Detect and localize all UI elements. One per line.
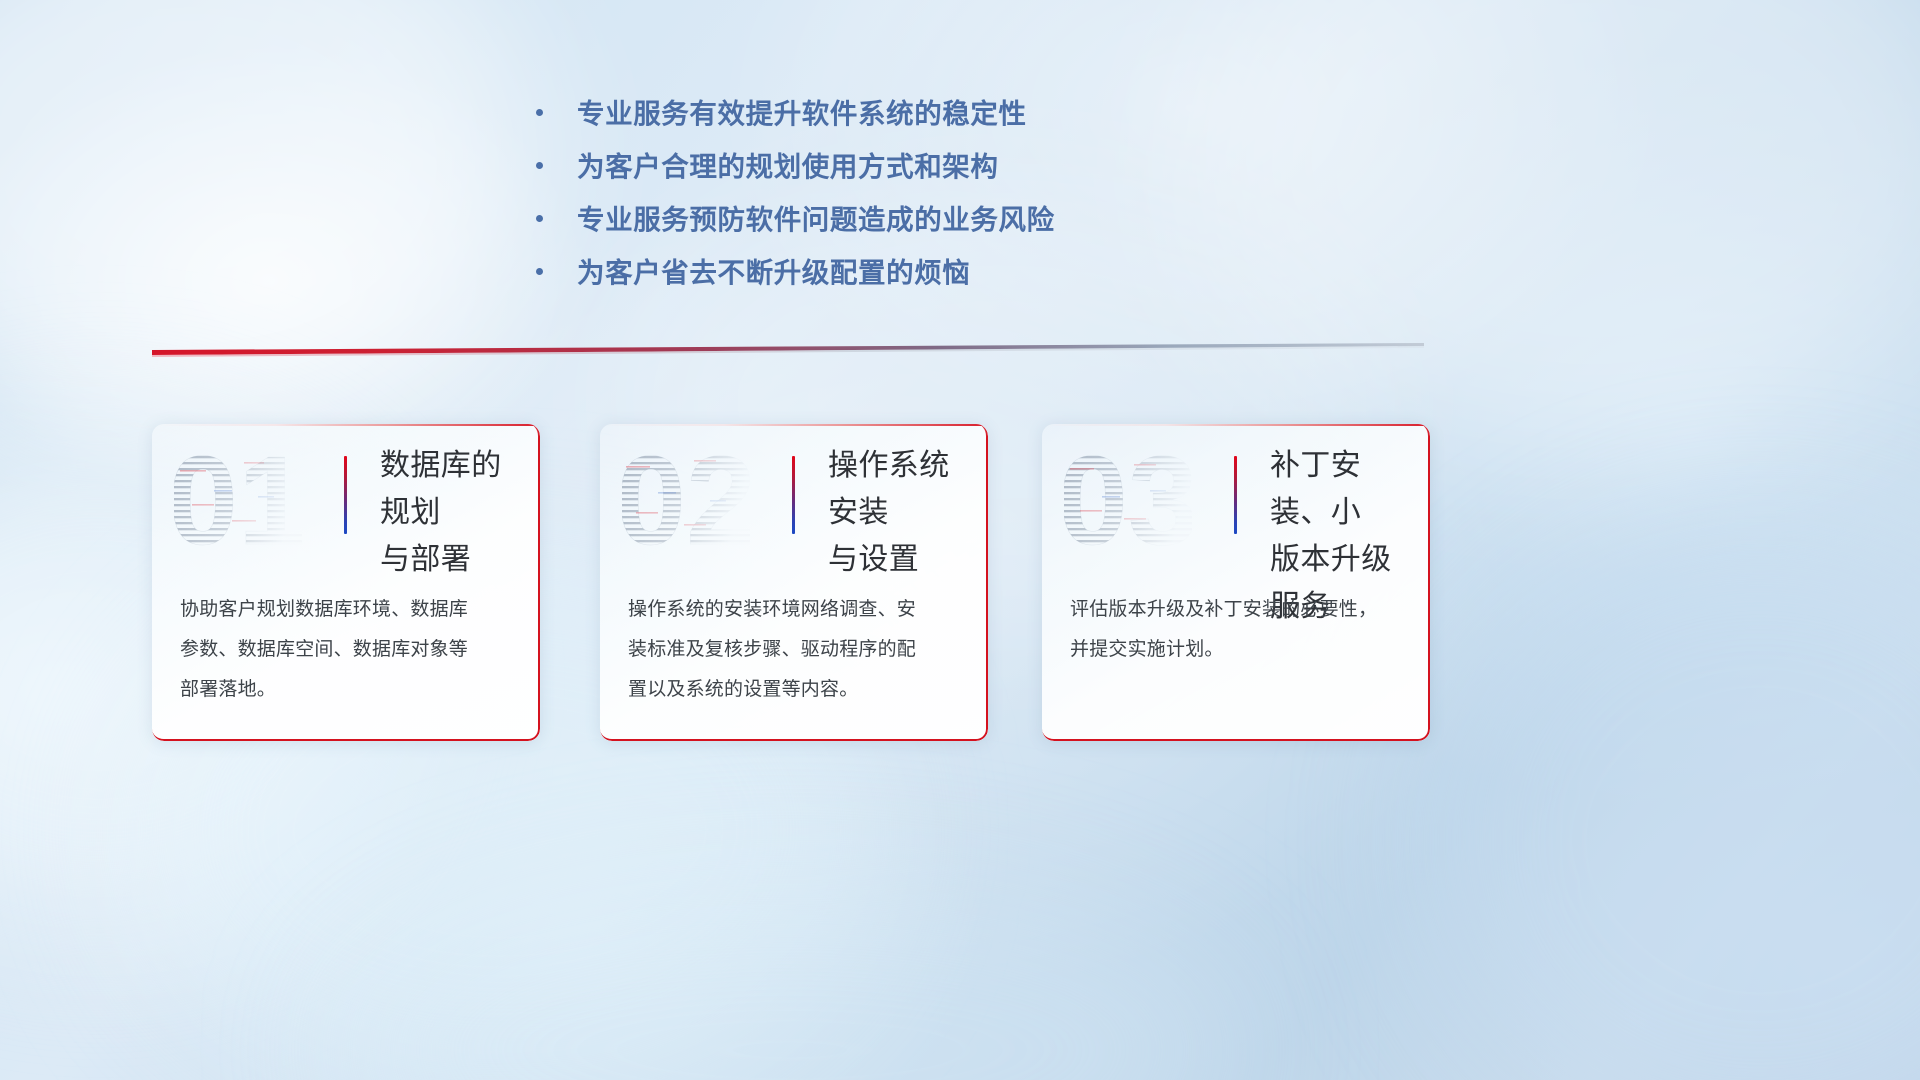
bullet-text: 专业服务预防软件问题造成的业务风险 [577, 194, 1055, 246]
svg-text:01: 01 [174, 432, 302, 562]
list-item: 为客户合理的规划使用方式和架构 [536, 141, 1296, 193]
list-item: 专业服务有效提升软件系统的稳定性 [536, 88, 1296, 140]
bullet-dot-icon [536, 162, 543, 169]
svg-text:03: 03 [1064, 432, 1192, 562]
section-divider [152, 343, 1424, 359]
card-title-line1: 数据库的规划 [380, 449, 502, 529]
card-title-line2: 与设置 [828, 543, 919, 576]
bullet-dot-icon [536, 109, 543, 116]
card-body: 评估版本升级及补丁安装的必要性， 并提交实施计划。 [1070, 590, 1406, 670]
slide-canvas: 专业服务有效提升软件系统的稳定性 为客户合理的规划使用方式和架构 专业服务预防软… [0, 0, 1920, 1080]
card-header: 01 01 数据库 [152, 424, 540, 576]
card-body-line3: 置以及系统的设置等内容。 [628, 679, 858, 700]
card-number-02-icon: 02 02 [622, 432, 750, 562]
list-item: 为客户省去不断升级配置的烦恼 [536, 247, 1296, 299]
card-header: 03 03 补丁安 [1042, 424, 1430, 576]
card-title: 数据库的规划 与部署 [380, 442, 524, 583]
card-accent-bar [792, 456, 795, 534]
card-body-line2: 装标准及复核步骤、驱动程序的配 [628, 639, 916, 660]
bullet-text: 为客户省去不断升级配置的烦恼 [577, 247, 970, 299]
card-body: 操作系统的安装环境网络调查、安 装标准及复核步骤、驱动程序的配 置以及系统的设置… [628, 590, 964, 710]
card-title: 操作系统安装 与设置 [828, 442, 972, 583]
card-body-line3: 部署落地。 [180, 679, 276, 700]
card-body-line1: 操作系统的安装环境网络调查、安 [628, 599, 916, 620]
card-header: 02 02 操作系 [600, 424, 988, 576]
card-title-line2: 与部署 [380, 543, 471, 576]
card-number-03-icon: 03 03 [1064, 432, 1192, 562]
card-accent-bar [344, 456, 347, 534]
card-number-01-icon: 01 01 [174, 432, 302, 562]
svg-text:02: 02 [622, 432, 750, 562]
service-card[interactable]: 01 01 数据库 [152, 424, 540, 741]
card-body-line1: 评估版本升级及补丁安装的必要性， [1070, 599, 1377, 620]
bullet-text: 专业服务有效提升软件系统的稳定性 [577, 88, 1027, 140]
card-body: 协助客户规划数据库环境、数据库 参数、数据库空间、数据库对象等 部署落地。 [180, 590, 516, 710]
service-cards-row: 01 01 数据库 [0, 424, 1920, 754]
bullet-dot-icon [536, 268, 543, 275]
list-item: 专业服务预防软件问题造成的业务风险 [536, 194, 1296, 246]
card-title-line1: 补丁安装、小 [1270, 449, 1361, 529]
background-glow-1 [0, 0, 540, 440]
card-accent-bar [1234, 456, 1237, 534]
card-body-line1: 协助客户规划数据库环境、数据库 [180, 599, 468, 620]
bullet-text: 为客户合理的规划使用方式和架构 [577, 141, 999, 193]
service-card[interactable]: 02 02 操作系 [600, 424, 988, 741]
card-title-line1: 操作系统安装 [828, 449, 950, 529]
bullet-dot-icon [536, 215, 543, 222]
background-glow-7 [340, 880, 1240, 1080]
card-body-line2: 并提交实施计划。 [1070, 639, 1224, 660]
service-card[interactable]: 03 03 补丁安 [1042, 424, 1430, 741]
benefits-bullet-list: 专业服务有效提升软件系统的稳定性 为客户合理的规划使用方式和架构 专业服务预防软… [536, 88, 1296, 300]
card-body-line2: 参数、数据库空间、数据库对象等 [180, 639, 468, 660]
